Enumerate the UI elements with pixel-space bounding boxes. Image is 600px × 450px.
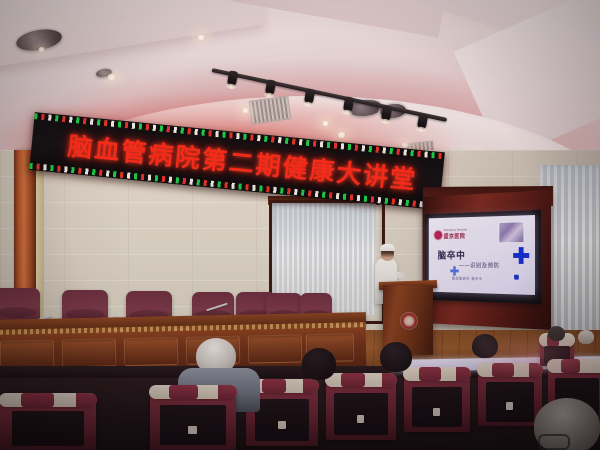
table-panel	[248, 334, 303, 363]
medical-cross-icon	[513, 247, 529, 264]
seat-light-reflection	[470, 330, 600, 380]
seat-headrest-stripe	[21, 393, 54, 407]
logo-name-chinese: 盛京医院	[444, 232, 468, 241]
table-panel	[0, 340, 54, 369]
seat-number-tag	[506, 402, 513, 410]
medical-cross-icon	[450, 266, 458, 275]
seat-back	[12, 411, 85, 446]
seat-headrest-side	[218, 385, 237, 399]
recessed-downlight	[321, 121, 330, 126]
recessed-downlight	[241, 108, 250, 113]
recessed-downlight	[336, 132, 347, 138]
blue-dot-icon	[514, 275, 519, 280]
recessed-downlight	[106, 74, 117, 80]
nurse-cap-icon	[380, 244, 395, 251]
auditorium-seat[interactable]	[326, 380, 396, 440]
eyeglasses-icon	[538, 434, 570, 450]
auditorium-seat[interactable]	[150, 392, 236, 450]
slide-subtitle: ——识别及预防	[459, 261, 500, 270]
seat-headrest-stripe	[262, 379, 286, 393]
auditorium-seat[interactable]	[404, 374, 470, 432]
slide-photo-thumbnail	[499, 222, 523, 242]
seat-number-tag	[188, 426, 197, 434]
hospital-logo: Shengjing Hospital 盛京医院	[434, 228, 467, 240]
person-head	[380, 342, 412, 372]
slide-meta-text: 脑血管病科 脑卒中	[452, 276, 483, 281]
seat-headrest-side	[303, 379, 319, 393]
hospital-emblem-icon	[401, 313, 417, 329]
seat-number-tag	[357, 415, 365, 423]
seat-headrest-stripe	[169, 385, 198, 399]
seat-headrest-side	[382, 373, 397, 387]
ceiling-panel	[232, 0, 451, 38]
seat-number-tag	[278, 421, 286, 429]
seat-headrest-side	[76, 393, 97, 407]
projection-slide: Shengjing Hospital 盛京医院 脑卒中 ——识别及预防 脑血管病…	[429, 215, 535, 295]
table-panel	[62, 338, 117, 367]
recessed-downlight	[196, 35, 206, 40]
table-panel	[124, 337, 179, 366]
seat-headrest-side	[456, 367, 471, 381]
person-head	[302, 348, 336, 380]
slide-title: 脑卒中	[438, 247, 466, 261]
recessed-downlight	[37, 47, 46, 52]
seat-headrest-stripe	[341, 373, 365, 387]
seat-number-tag	[433, 408, 440, 416]
auditorium-photo: 脑血管病院第二期健康大讲堂 Shengjing Hospital 盛京医院 脑卒…	[0, 0, 600, 450]
logo-emblem-icon	[434, 231, 441, 239]
seat-headrest-stripe	[419, 367, 441, 381]
auditorium-seat[interactable]	[0, 400, 96, 450]
